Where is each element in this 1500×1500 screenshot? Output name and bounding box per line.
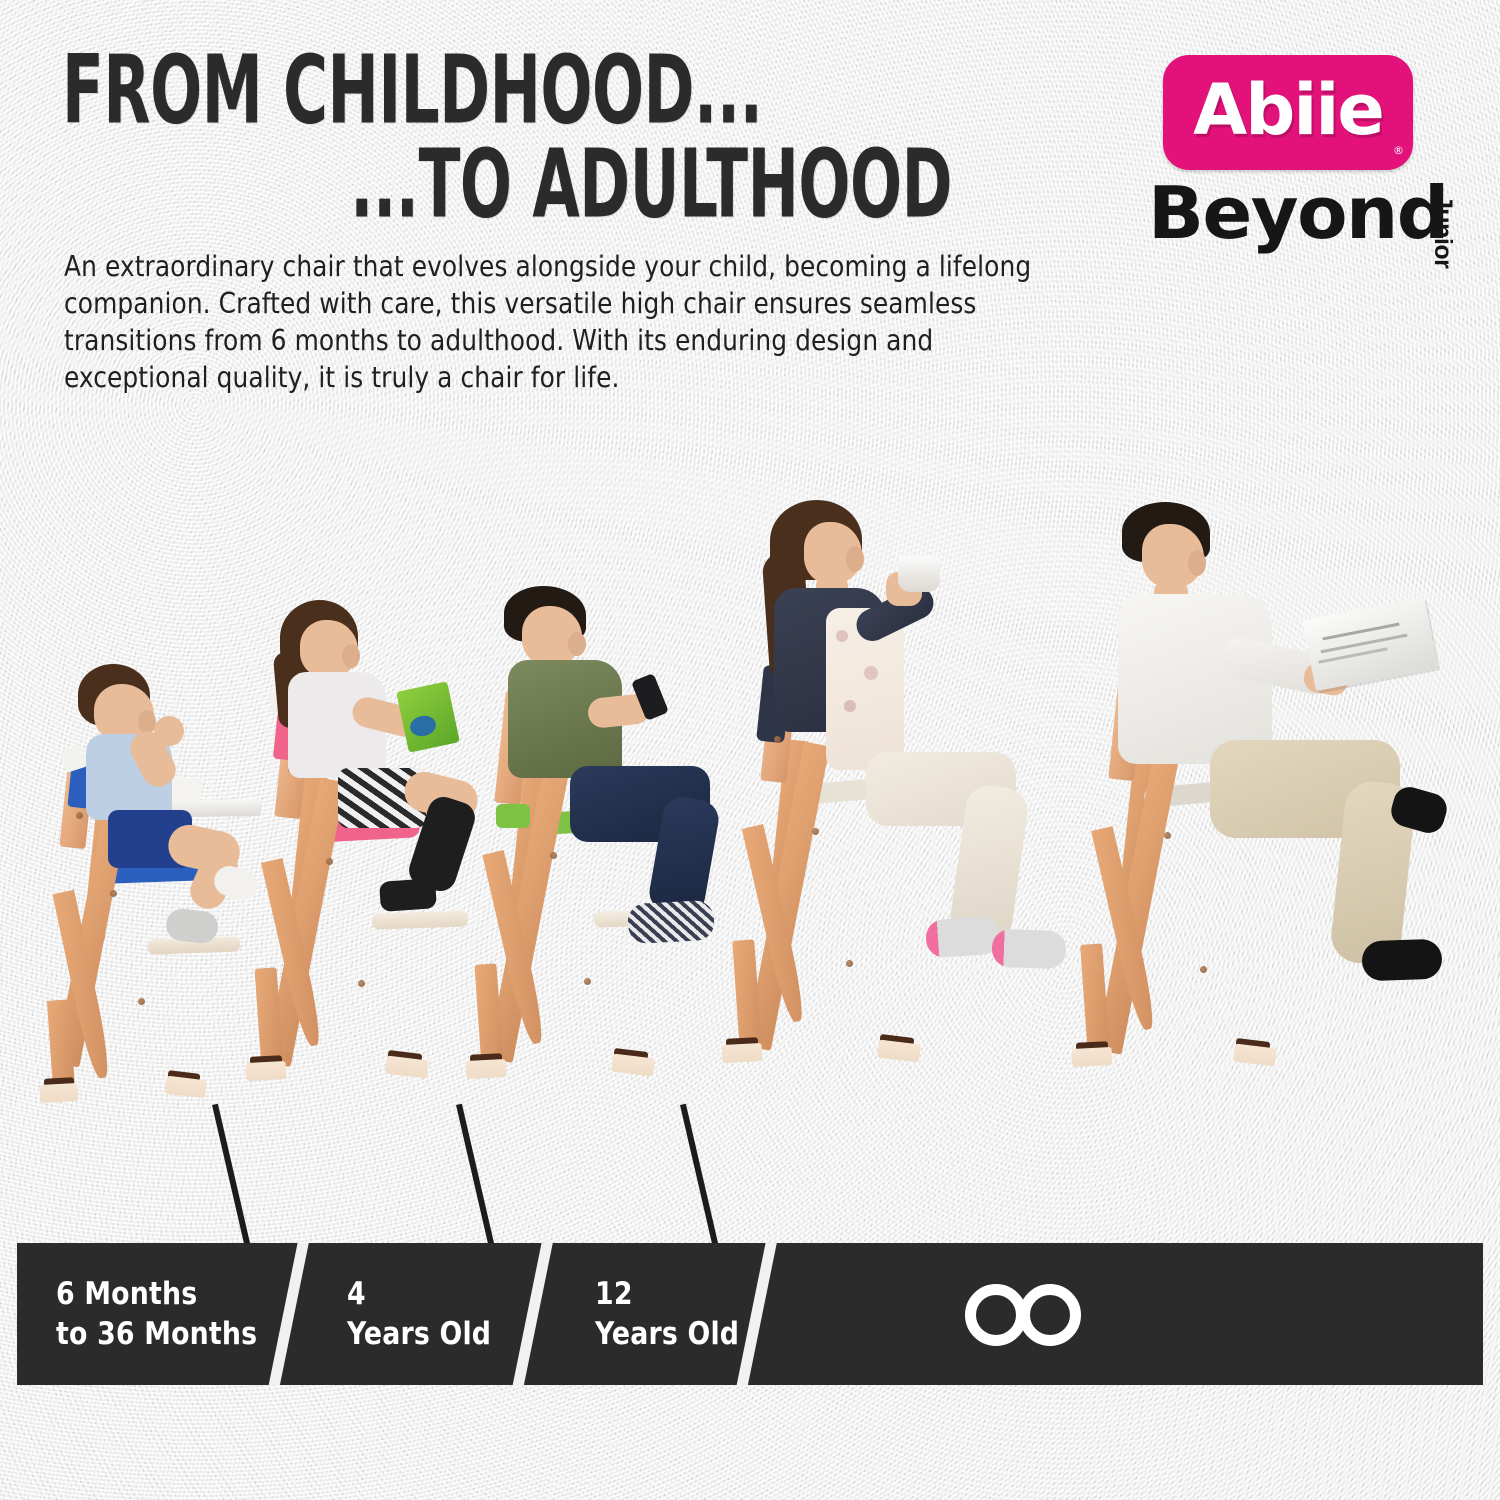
connector-line-2 <box>456 1104 498 1261</box>
page-title: FROM CHILDHOOD... ...TO ADULTHOOD <box>62 52 982 206</box>
woman-sock <box>925 915 1001 958</box>
description-paragraph: An extraordinary chair that evolves alon… <box>64 248 1053 396</box>
age-cell-2: 12Years Old <box>595 1243 795 1385</box>
age-range-banner: 6 Monthsto 36 Months 4Years Old 12Years … <box>17 1243 1483 1385</box>
chair-figure-woman <box>730 490 1070 1110</box>
age-cell-1-label: 4Years Old <box>347 1274 491 1354</box>
connector-line-3 <box>680 1104 722 1261</box>
age-cell-2-label: 12Years Old <box>595 1274 739 1354</box>
infographic-canvas: FROM CHILDHOOD... ...TO ADULTHOOD An ext… <box>0 0 1500 1500</box>
age-cell-0-label: 6 Monthsto 36 Months <box>56 1274 257 1354</box>
headline-line-1: FROM CHILDHOOD... <box>62 52 908 130</box>
product-name: Beyond <box>1148 177 1448 249</box>
description-text: An extraordinary chair that evolves alon… <box>64 248 1084 396</box>
cup <box>168 778 202 802</box>
boy-shoe <box>627 900 715 944</box>
registered-trademark-icon: ® <box>1393 144 1404 157</box>
man-sock <box>1361 939 1442 982</box>
connector-line-1 <box>212 1104 254 1261</box>
chair-figure-toddler <box>18 660 258 1110</box>
brand-name: Abiie <box>1163 55 1413 170</box>
man-newspaper <box>1302 597 1437 691</box>
brand-logo: Abiie ® Beyond Junior <box>1148 55 1458 280</box>
product-lifecycle-illustration <box>0 470 1500 1130</box>
age-cell-1: 4Years Old <box>347 1243 547 1385</box>
product-edition: Junior <box>1428 195 1457 268</box>
woman-mug <box>898 556 940 592</box>
logo-badge-shape: Abiie ® <box>1163 55 1413 170</box>
age-cell-0: 6 Monthsto 36 Months <box>56 1243 296 1385</box>
chair-figure-boy <box>460 580 760 1110</box>
footrest <box>372 910 468 929</box>
headline-line-2: ...TO ADULTHOOD <box>133 146 952 224</box>
infinity-icon <box>965 1284 1095 1346</box>
chair-figure-man <box>1070 490 1490 1110</box>
